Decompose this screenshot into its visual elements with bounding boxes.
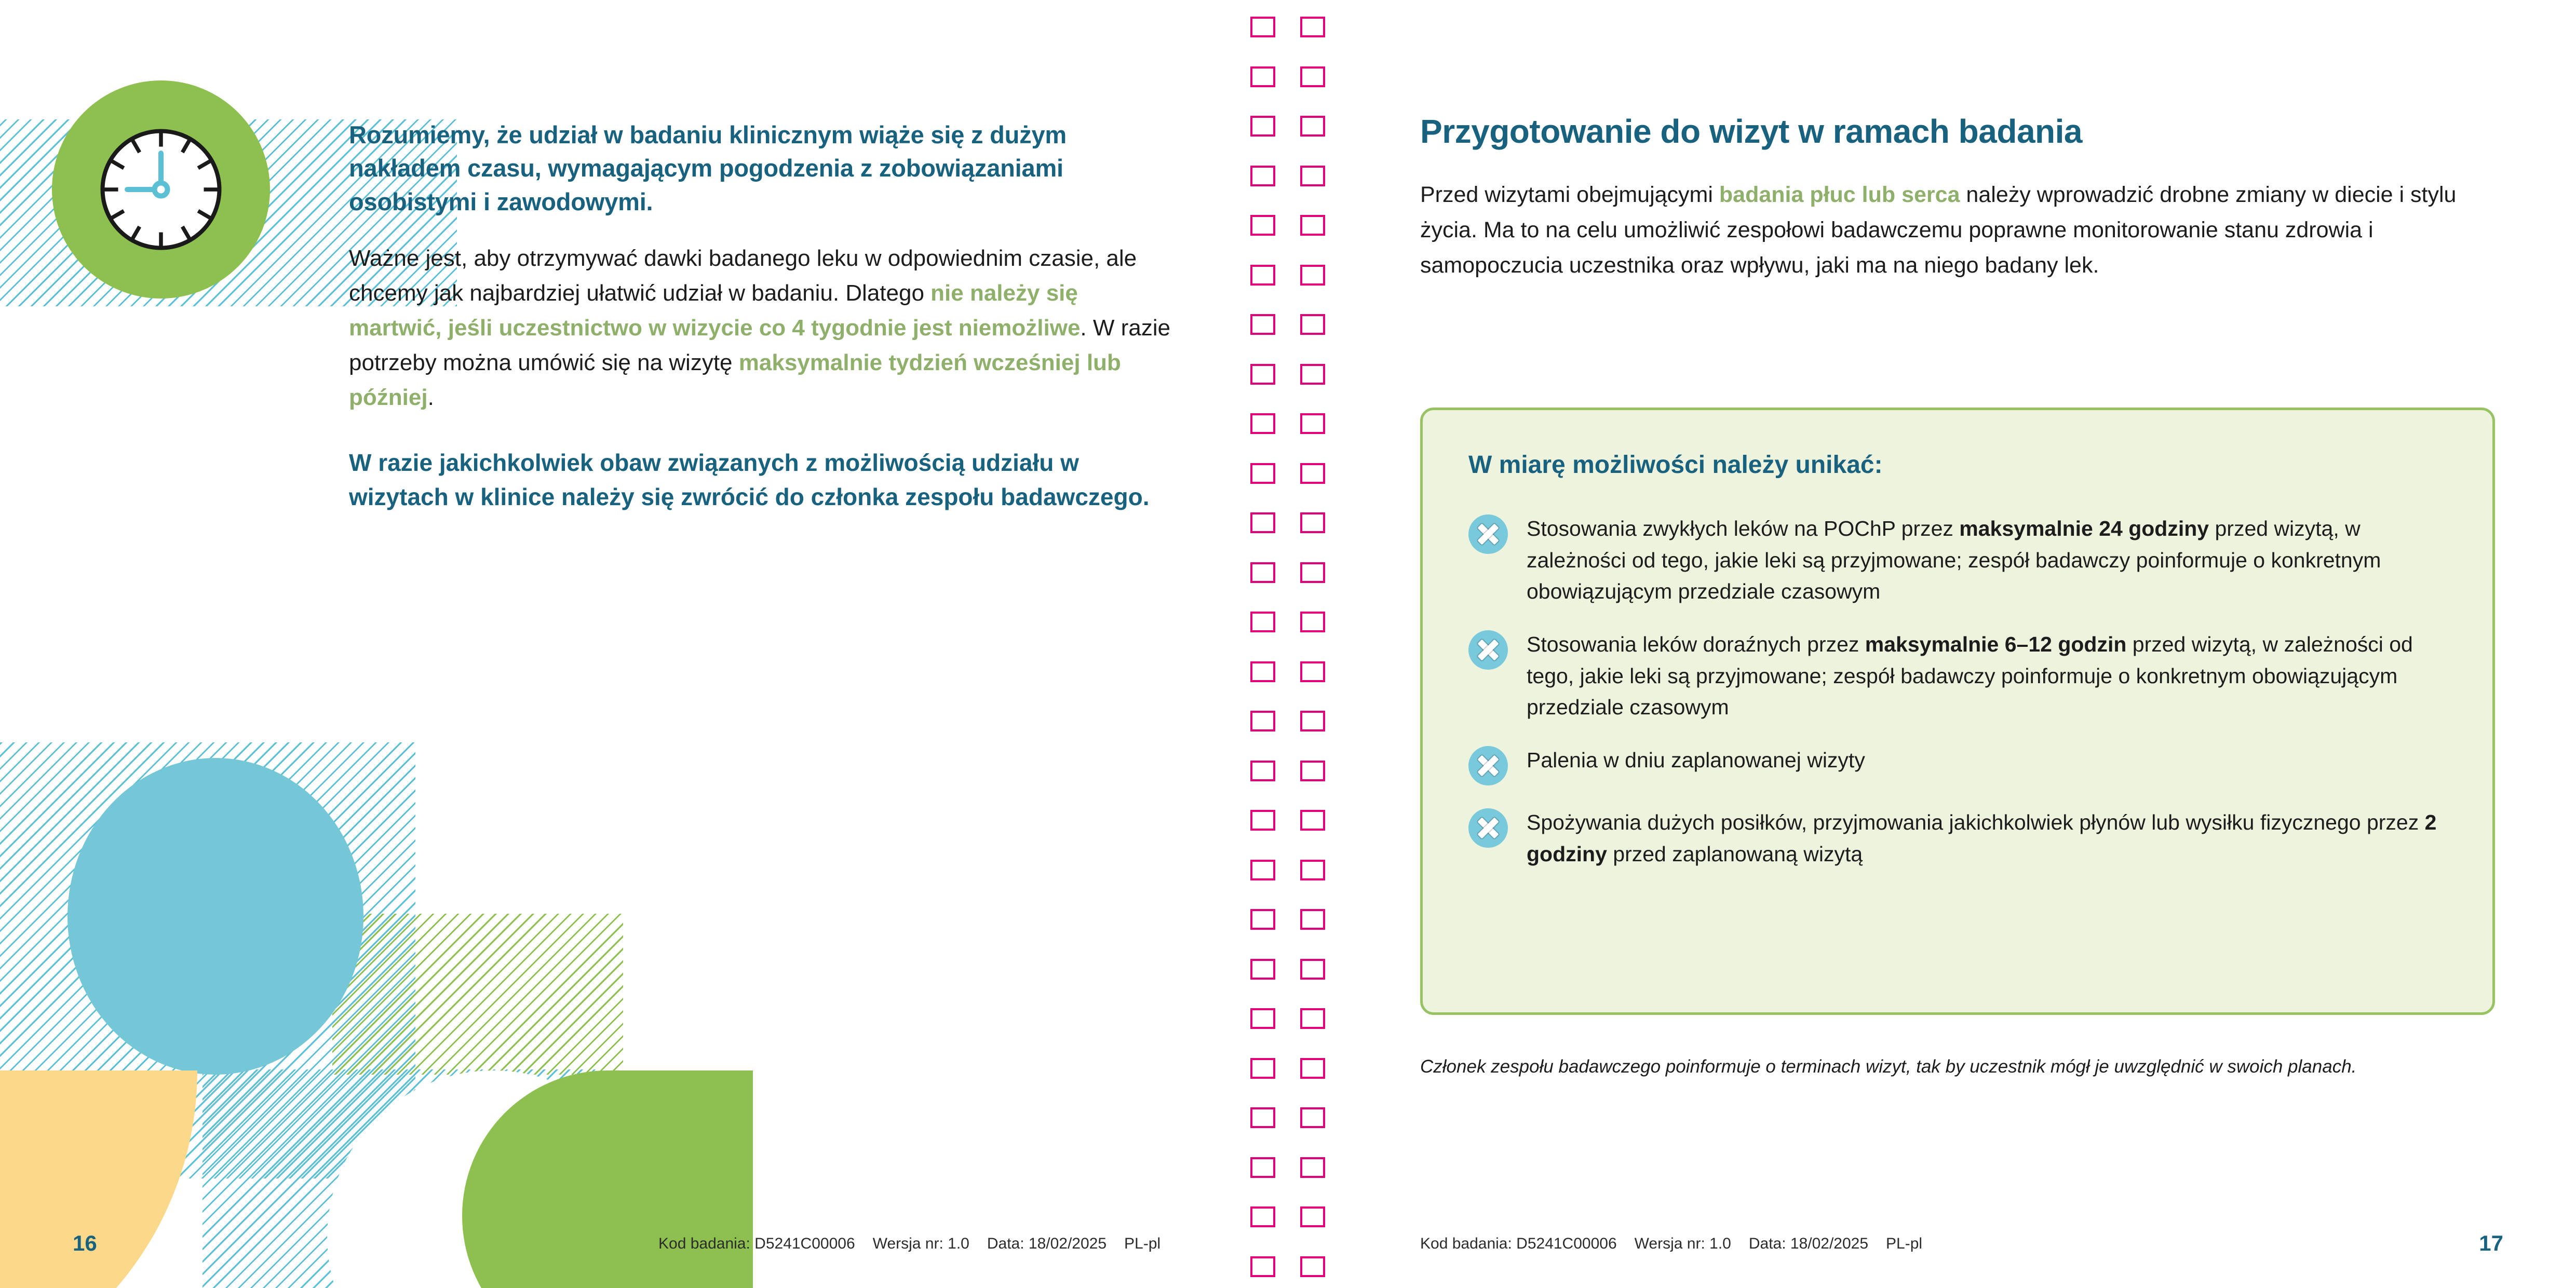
registration-square <box>1250 562 1275 583</box>
registration-square <box>1250 810 1275 831</box>
left-body-paragraph: Ważne jest, aby otrzymywać dawki badaneg… <box>349 241 1175 415</box>
teal-circle-shape <box>68 758 363 1075</box>
intro-part-1: Przed wizytami obejmującymi <box>1420 182 1719 207</box>
footer-version-left: Wersja nr: 1.0 <box>873 1235 969 1252</box>
avoid-1-bold: maksymalnie 24 godziny <box>1959 517 2209 540</box>
registration-square <box>1250 612 1275 632</box>
registration-square <box>1250 364 1275 385</box>
body-part-3: . <box>428 385 434 410</box>
list-item: Spożywania dużych posiłków, przyjmowania… <box>1468 807 2454 870</box>
registration-square <box>1250 1008 1275 1029</box>
diagonal-stripes-green <box>332 914 623 1075</box>
avoid-3-part-1: Palenia w dniu zaplanowanej wizyty <box>1527 748 1865 772</box>
footer-meta-left: Kod badania: D5241C00006Wersja nr: 1.0Da… <box>658 1235 1161 1253</box>
registration-square <box>1250 1256 1275 1277</box>
avoid-2-part-1: Stosowania leków doraźnych przez <box>1527 632 1865 656</box>
registration-square <box>1250 711 1275 731</box>
footer-meta-right: Kod badania: D5241C00006Wersja nr: 1.0Da… <box>1420 1235 1922 1253</box>
registration-square <box>1250 1157 1275 1178</box>
registration-square <box>1250 314 1275 335</box>
page-spread: Rozumiemy, że udział w badaniu kliniczny… <box>0 0 2576 1288</box>
registration-square <box>1250 860 1275 880</box>
footer-date-right: Data: 18/02/2025 <box>1749 1235 1868 1252</box>
avoid-2-bold: maksymalnie 6–12 godzin <box>1865 632 2127 656</box>
footer-version-right: Wersja nr: 1.0 <box>1635 1235 1731 1252</box>
registration-square <box>1250 17 1275 37</box>
left-page: Rozumiemy, że udział w badaniu kliniczny… <box>0 0 1288 1288</box>
avoid-callout-box: W miarę możliwości należy unikać: Stosow… <box>1420 408 2495 1015</box>
right-footnote: Członek zespołu badawczego poinformuje o… <box>1420 1053 2453 1081</box>
clock-icon <box>52 80 270 299</box>
left-callout-paragraph: W razie jakichkolwiek obaw związanych z … <box>349 445 1175 514</box>
registration-square <box>1250 959 1275 980</box>
registration-square <box>1250 166 1275 186</box>
registration-square <box>1250 512 1275 533</box>
footer-locale-left: PL-pl <box>1124 1235 1161 1252</box>
green-half-circle-shape <box>462 1070 753 1288</box>
registration-square <box>1250 215 1275 236</box>
avoid-box-title: W miarę możliwości należy unikać: <box>1468 451 1883 479</box>
avoid-1-part-1: Stosowania zwykłych leków na POChP przez <box>1527 517 1959 540</box>
list-item: Palenia w dniu zaplanowanej wizyty <box>1468 744 2454 785</box>
registration-square <box>1250 265 1275 286</box>
x-circle-icon <box>1468 630 1508 670</box>
footer-date-left: Data: 18/02/2025 <box>987 1235 1107 1252</box>
right-intro-paragraph: Przed wizytami obejmującymi badania płuc… <box>1420 178 2495 283</box>
registration-square <box>1250 1107 1275 1128</box>
footer-study-code-right: Kod badania: D5241C00006 <box>1420 1235 1617 1252</box>
list-item: Stosowania zwykłych leków na POChP przez… <box>1468 513 2454 607</box>
left-text-column: Rozumiemy, że udział w badaniu kliniczny… <box>349 118 1175 514</box>
left-lead-paragraph: Rozumiemy, że udział w badaniu kliniczny… <box>349 118 1175 219</box>
avoid-list: Stosowania zwykłych leków na POChP przez… <box>1468 513 2454 870</box>
avoid-item-text: Stosowania leków doraźnych przez maksyma… <box>1527 629 2454 723</box>
registration-square <box>1250 1058 1275 1079</box>
footer-study-code-left: Kod badania: D5241C00006 <box>658 1235 855 1252</box>
registration-square <box>1250 413 1275 434</box>
registration-square <box>1250 1206 1275 1227</box>
registration-square <box>1250 909 1275 930</box>
avoid-4-part-1: Spożywania dużych posiłków, przyjmowania… <box>1527 810 2425 834</box>
x-circle-icon <box>1468 746 1508 785</box>
x-circle-icon <box>1468 514 1508 554</box>
clock-face-svg <box>96 125 226 254</box>
list-item: Stosowania leków doraźnych przez maksyma… <box>1468 629 2454 723</box>
registration-square <box>1250 463 1275 484</box>
diagonal-stripes-bottom-wide <box>203 1069 597 1288</box>
clock-green-disc <box>52 80 270 299</box>
avoid-4-part-2: przed zaplanowaną wizytą <box>1607 842 1863 866</box>
page-number-left: 16 <box>73 1231 97 1256</box>
page-title: Przygotowanie do wizyt w ramach badania <box>1420 112 2495 152</box>
registration-square <box>1250 116 1275 137</box>
intro-accent-1: badania płuc lub serca <box>1719 182 1960 207</box>
registration-square <box>1250 761 1275 781</box>
registration-square <box>1250 661 1275 682</box>
x-circle-icon <box>1468 808 1508 848</box>
avoid-item-text: Palenia w dniu zaplanowanej wizyty <box>1527 744 1865 776</box>
avoid-item-text: Stosowania zwykłych leków na POChP przez… <box>1527 513 2454 607</box>
diagonal-stripes-bottom-left <box>0 742 415 1178</box>
yellow-quarter-shape <box>0 1070 197 1288</box>
white-circle-cutout <box>327 1070 659 1288</box>
page-number-right: 17 <box>2479 1231 2503 1256</box>
right-text-column: Przygotowanie do wizyt w ramach badania … <box>1420 112 2495 283</box>
footer-locale-right: PL-pl <box>1886 1235 1922 1252</box>
registration-square <box>1250 66 1275 87</box>
avoid-item-text: Spożywania dużych posiłków, przyjmowania… <box>1527 807 2454 870</box>
